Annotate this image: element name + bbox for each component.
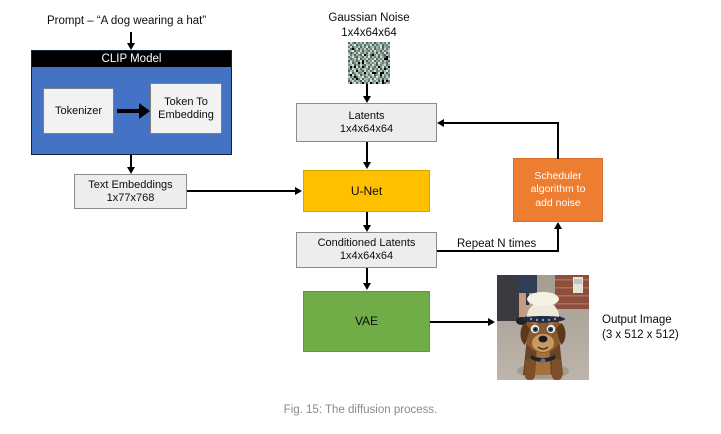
token-to-embedding-box: Token To Embedding	[150, 83, 222, 134]
text-embeddings-box: Text Embeddings 1x77x768	[74, 174, 187, 209]
output-image-shape: (3 x 512 x 512)	[602, 328, 679, 342]
edge-text-embeddings-to-unet-line	[187, 190, 296, 192]
edge-tokenizer-to-embedding-line	[117, 109, 140, 113]
edge-conditioned-latents-to-vae-line	[366, 268, 368, 284]
gaussian-noise-shape: 1x4x64x64	[309, 26, 429, 40]
repeat-n-times-label: Repeat N times	[457, 237, 536, 251]
edge-latents-to-unet-arrowhead	[363, 162, 371, 169]
edge-latents-to-unet-line	[366, 142, 368, 163]
edge-tokenizer-to-embedding-arrowhead	[139, 103, 150, 119]
edge-scheduler-to-latents-arrowhead	[437, 119, 444, 127]
text-embeddings-shape: 1x77x768	[107, 192, 155, 205]
unet-box: U-Net	[303, 170, 430, 212]
scheduler-label-line1: Scheduler	[534, 170, 581, 184]
gaussian-noise-title: Gaussian Noise	[309, 11, 429, 25]
edge-vae-to-output-arrowhead	[488, 318, 495, 326]
edge-text-embeddings-to-unet-arrowhead	[295, 187, 302, 195]
edge-unet-to-conditioned-latents-arrowhead	[363, 225, 371, 232]
text-embeddings-title: Text Embeddings	[88, 179, 172, 192]
diffusion-process-figure: Prompt – “A dog wearing a hat” CLIP Mode…	[0, 0, 721, 434]
edge-conditioned-latents-to-vae-arrowhead	[363, 283, 371, 290]
token-to-embedding-label-line2: Embedding	[158, 109, 214, 122]
conditioned-latents-title: Conditioned Latents	[318, 237, 416, 250]
scheduler-box: Scheduler algorithm to add noise	[513, 158, 603, 222]
vae-box: VAE	[303, 291, 430, 352]
edge-prompt-to-clip-arrowhead	[127, 43, 135, 50]
clip-model-title: CLIP Model	[32, 51, 231, 67]
edge-scheduler-to-latents-vertical	[557, 123, 559, 159]
edge-clip-to-text-embeddings-arrowhead	[127, 167, 135, 174]
edge-repeat-loop-arrowhead	[554, 222, 562, 229]
scheduler-label-line3: add noise	[535, 197, 581, 211]
tokenizer-label: Tokenizer	[55, 105, 102, 118]
tokenizer-box: Tokenizer	[43, 88, 114, 134]
conditioned-latents-box: Conditioned Latents 1x4x64x64	[296, 232, 437, 268]
latents-shape: 1x4x64x64	[340, 123, 393, 136]
output-image-title: Output Image	[602, 313, 672, 327]
edge-noise-to-latents-arrowhead	[363, 96, 371, 103]
latents-title: Latents	[348, 110, 384, 123]
prompt-label: Prompt – “A dog wearing a hat”	[47, 14, 206, 28]
unet-label: U-Net	[351, 184, 382, 198]
conditioned-latents-shape: 1x4x64x64	[340, 250, 393, 263]
edge-unet-to-conditioned-latents-line	[366, 212, 368, 226]
gaussian-noise-thumbnail	[348, 42, 390, 84]
edge-repeat-loop-vertical-up	[557, 229, 559, 252]
scheduler-label-line2: algorithm to	[531, 183, 586, 197]
latents-box: Latents 1x4x64x64	[296, 103, 437, 142]
figure-caption: Fig. 15: The diffusion process.	[0, 404, 721, 416]
token-to-embedding-label-line1: Token To	[164, 96, 208, 109]
edge-scheduler-to-latents-horizontal	[444, 122, 559, 124]
edge-vae-to-output-line	[430, 321, 489, 323]
vae-label: VAE	[355, 314, 378, 328]
output-image-photo	[497, 275, 589, 380]
